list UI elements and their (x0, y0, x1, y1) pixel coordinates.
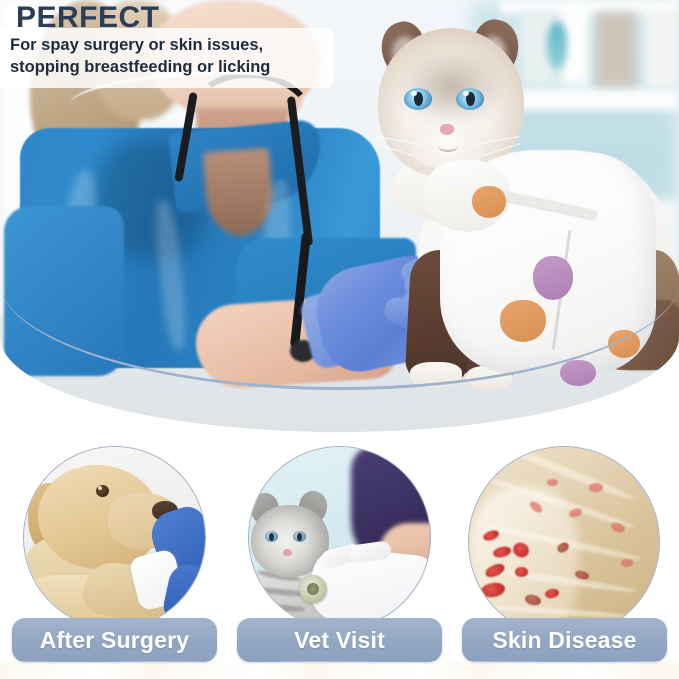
card-image-vet-visit (248, 446, 431, 629)
card-label-skin-disease[interactable]: Skin Disease (462, 618, 667, 662)
card-label-text: Skin Disease (492, 627, 636, 654)
card-label-text: Vet Visit (294, 627, 385, 654)
vet-left-arm (4, 206, 124, 376)
card-image-skin-disease (468, 446, 660, 638)
subtitle-box: For spay surgery or skin issues, stoppin… (0, 28, 334, 88)
stethoscope-diaphragm (307, 583, 319, 595)
cat-eye-highlight-right (463, 91, 469, 96)
card-label-after-surgery[interactable]: After Surgery (12, 618, 217, 662)
cat-print-orange (608, 330, 640, 358)
cat-mouth (438, 140, 458, 152)
skin-lesion (547, 479, 558, 486)
product-infographic: PERFECT For spay surgery or skin issues,… (0, 0, 679, 679)
dog-eye-highlight (98, 486, 102, 490)
bottom-watermark (0, 661, 679, 679)
cat-paw (410, 362, 462, 388)
card-label-vet-visit[interactable]: Vet Visit (237, 618, 442, 662)
cat-print-orange (472, 186, 506, 218)
cat-print-purple (560, 360, 596, 386)
cat-print-purple (533, 256, 573, 300)
skin-lesion (515, 567, 528, 577)
kitten-pupil-right (297, 533, 302, 541)
card-image-after-surgery (23, 446, 206, 629)
skin-lesion (589, 483, 603, 492)
kitten-pupil-left (269, 533, 274, 541)
cat-eye-highlight-left (411, 91, 417, 96)
cat-print-orange (500, 300, 546, 342)
kitten-nose (283, 549, 292, 556)
use-case-cards: After Surgery (0, 440, 679, 679)
page-title: PERFECT (16, 2, 160, 34)
skin-lesion (621, 559, 633, 567)
cat-nose (440, 124, 454, 135)
teal-vase (547, 22, 567, 70)
shelf-item-3 (596, 12, 636, 86)
card-label-text: After Surgery (40, 627, 190, 654)
shelf-item-4 (644, 8, 679, 88)
page-subtitle: For spay surgery or skin issues, stoppin… (10, 35, 320, 79)
